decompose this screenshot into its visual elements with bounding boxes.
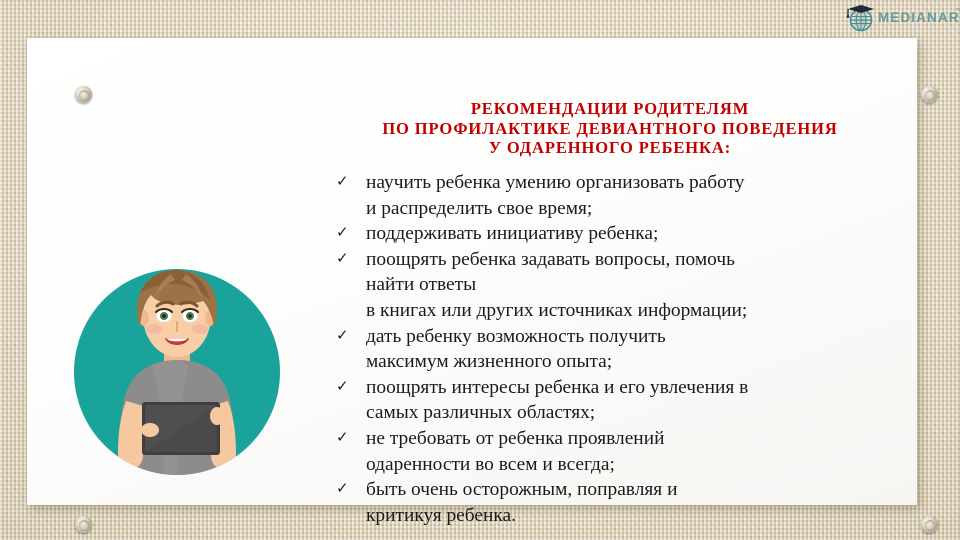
list-item: ✓ дать ребенку возможность получитьмакси… [336, 324, 896, 375]
list-item: ✓ поощрять интересы ребенка и его увлече… [336, 375, 896, 426]
list-item: ✓ быть очень осторожным, поправляя икрит… [336, 477, 896, 528]
medianar-logo: MEDIANAR ™ [842, 3, 960, 33]
list-item-text: поощрять ребенка задавать вопросы, помоч… [366, 247, 896, 324]
logo-brand-text: MEDIANAR [878, 10, 960, 25]
screw-bottom-left [75, 516, 92, 533]
list-item: ✓ научить ребенка умению организовать ра… [336, 170, 896, 221]
screw-top-left [75, 86, 92, 103]
check-icon: ✓ [336, 220, 349, 246]
title-line-3: У ОДАРЕННОГО РЕБЕНКА: [300, 138, 920, 158]
woman-with-tablet-illustration [74, 256, 280, 488]
title-line-2: ПО ПРОФИЛАКТИКЕ ДЕВИАНТНОГО ПОВЕДЕНИЯ [300, 119, 920, 139]
check-icon: ✓ [336, 323, 349, 349]
check-icon: ✓ [336, 169, 349, 195]
recommendations-list: ✓ научить ребенка умению организовать ра… [336, 170, 896, 528]
screw-top-right [921, 86, 938, 103]
list-item-text: поддерживать инициативу ребенка; [366, 221, 896, 247]
slide-title: РЕКОМЕНДАЦИИ РОДИТЕЛЯМ ПО ПРОФИЛАКТИКЕ Д… [300, 99, 920, 158]
title-line-1: РЕКОМЕНДАЦИИ РОДИТЕЛЯМ [300, 99, 920, 119]
globe-graduation-cap-icon [842, 3, 878, 33]
logo-trademark: ™ [955, 8, 960, 15]
screw-bottom-right [921, 516, 938, 533]
list-item-text: дать ребенку возможность получитьмаксиму… [366, 324, 896, 375]
list-item: ✓ поддерживать инициативу ребенка; [336, 221, 896, 247]
list-item-text: не требовать от ребенка проявленийодарен… [366, 426, 896, 477]
check-icon: ✓ [336, 374, 349, 400]
list-item: ✓ не требовать от ребенка проявленийодар… [336, 426, 896, 477]
list-item-text: научить ребенка умению организовать рабо… [366, 170, 896, 221]
list-item-text: поощрять интересы ребенка и его увлечени… [366, 375, 896, 426]
check-icon: ✓ [336, 425, 349, 451]
list-item-text: быть очень осторожным, поправляя икритик… [366, 477, 896, 528]
list-item: ✓ поощрять ребенка задавать вопросы, пом… [336, 247, 896, 324]
check-icon: ✓ [336, 476, 349, 502]
check-icon: ✓ [336, 246, 349, 272]
